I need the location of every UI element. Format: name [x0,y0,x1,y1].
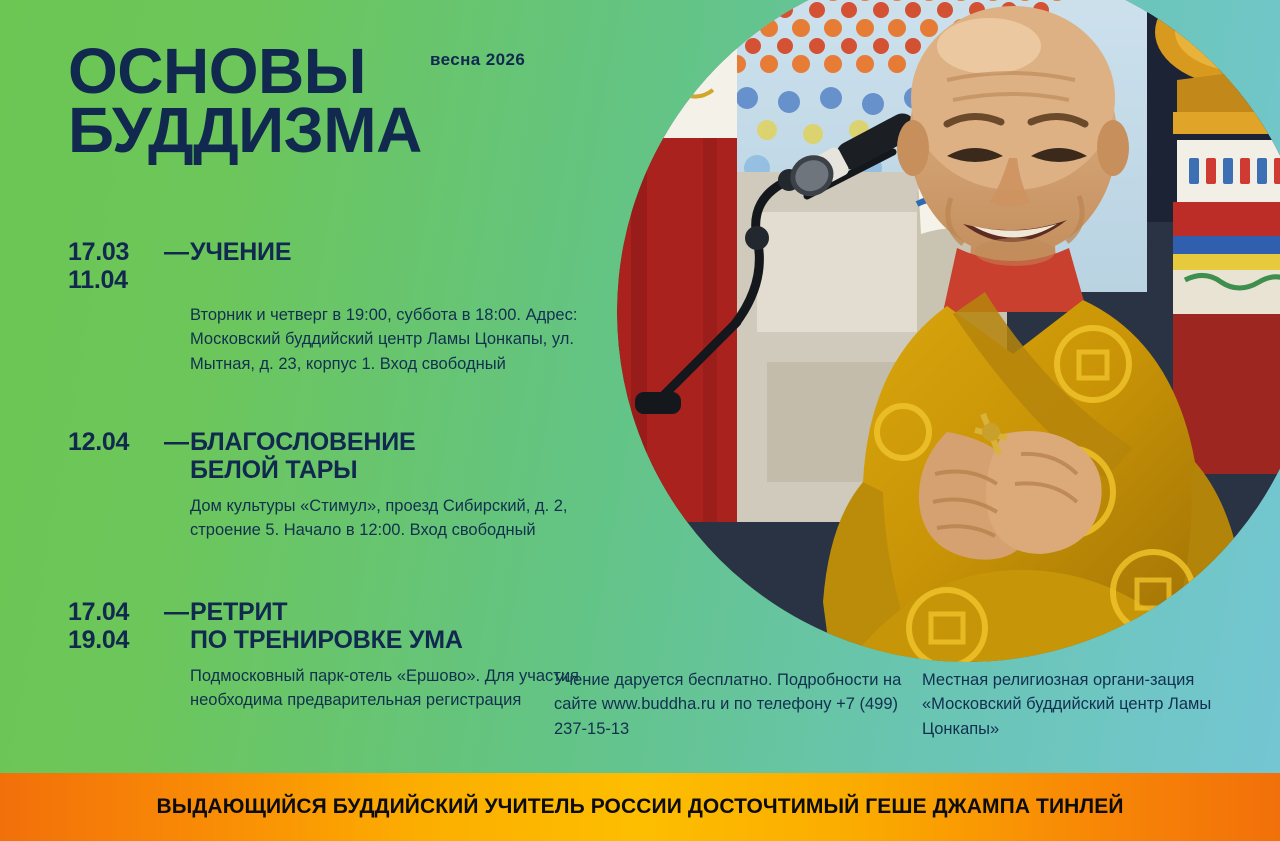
teacher-photo [617,0,1280,662]
event-title: УЧЕНИЕ [190,238,291,266]
event-item: 17.0419.04 — РЕТРИТПО ТРЕНИРОВКЕ УМА Под… [68,598,588,713]
event-dash: — [164,238,190,266]
title-line-2: БУДДИЗМА [68,101,588,160]
event-date-line: 11.04 [68,266,164,294]
event-header: 12.04 — БЛАГОСЛОВЕНИЕБЕЛОЙ ТАРЫ [68,428,588,484]
event-date-line: 17.03 [68,238,164,266]
event-dates: 17.0311.04 [68,238,164,294]
bottom-banner: ВЫДАЮЩИЙСЯ БУДДИЙСКИЙ УЧИТЕЛЬ РОССИИ ДОС… [0,773,1280,841]
poster: ОСНОВЫ БУДДИЗМА весна 2026 17.0311.04 — … [0,0,1280,841]
event-item: 12.04 — БЛАГОСЛОВЕНИЕБЕЛОЙ ТАРЫ Дом куль… [68,428,588,543]
event-dates: 17.0419.04 [68,598,164,654]
event-item: 17.0311.04 — УЧЕНИЕ Вторник и четверг в … [68,238,588,376]
event-title: БЛАГОСЛОВЕНИЕБЕЛОЙ ТАРЫ [190,428,415,484]
event-header: 17.0311.04 — УЧЕНИЕ [68,238,588,294]
event-description: Дом культуры «Стимул», проезд Сибирский,… [190,494,588,543]
footnote-donation-info: Учение даруется бесплатно. Подробности н… [554,668,914,741]
season-label: весна 2026 [430,50,525,70]
event-dash: — [164,428,190,456]
event-dash: — [164,598,190,626]
teacher-photo-illustration [617,0,1280,662]
event-header: 17.0419.04 — РЕТРИТПО ТРЕНИРОВКЕ УМА [68,598,588,654]
event-description: Вторник и четверг в 19:00, суббота в 18:… [190,303,588,376]
event-title: РЕТРИТПО ТРЕНИРОВКЕ УМА [190,598,463,654]
event-date-line: 12.04 [68,428,164,456]
event-date-line: 19.04 [68,626,164,654]
event-date-line: 17.04 [68,598,164,626]
event-description: Подмосковный парк-отель «Ершово». Для уч… [190,664,588,713]
banner-text: ВЫДАЮЩИЙСЯ БУДДИЙСКИЙ УЧИТЕЛЬ РОССИИ ДОС… [156,795,1123,819]
footnote-organization: Местная религиозная органи-зация «Москов… [922,668,1262,741]
event-dates: 12.04 [68,428,164,456]
